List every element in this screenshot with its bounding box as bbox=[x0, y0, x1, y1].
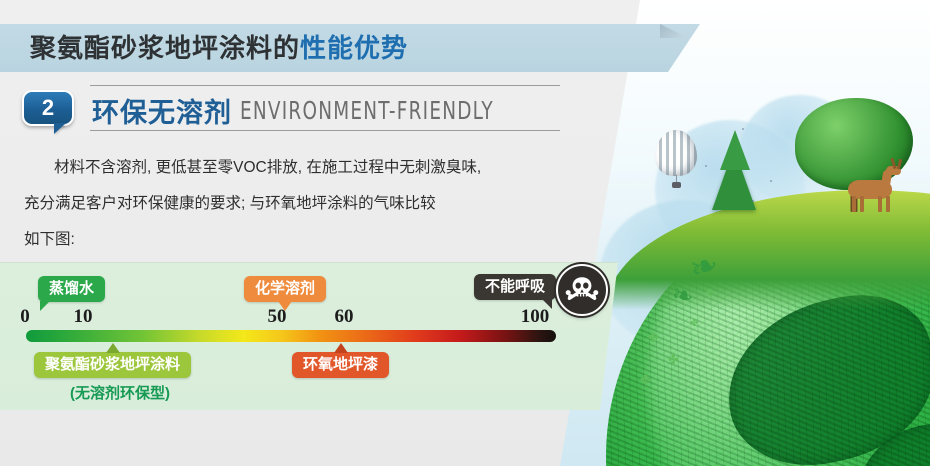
pu-sub-label: (无溶剂环保型) bbox=[34, 382, 206, 403]
clover-icon: ✤ bbox=[706, 288, 714, 299]
heading-rule-bottom bbox=[90, 130, 560, 131]
body-line: 充分满足客户对环保健康的要求; 与环氧地坪涂料的气味比较 bbox=[24, 186, 564, 222]
deer-leg bbox=[860, 196, 864, 212]
tick-label-100: 100 bbox=[521, 306, 550, 328]
deer-icon bbox=[842, 170, 900, 212]
annotation-label: 不能呼吸 bbox=[485, 278, 545, 295]
hot-air-balloon-icon bbox=[655, 130, 697, 188]
body-line: 材料不含溶剂, 更低甚至零VOC排放, 在施工过程中无刺激臭味, bbox=[24, 150, 564, 186]
body-paragraph: 材料不含溶剂, 更低甚至零VOC排放, 在施工过程中无刺激臭味, 充分满足客户对… bbox=[24, 150, 564, 258]
annotation-cannot-breathe: 不能呼吸 bbox=[474, 274, 556, 300]
balloon-envelope bbox=[655, 130, 697, 176]
section-title-cn: 环保无溶剂 bbox=[92, 91, 232, 130]
page-title-main: 聚氨酯砂浆地坪涂料的 bbox=[30, 33, 300, 63]
annotation-chemical-solvent: 化学溶剂 bbox=[244, 276, 326, 302]
deer-leg bbox=[886, 196, 890, 212]
skull-and-crossbones-icon bbox=[556, 264, 608, 316]
heading-rule-top bbox=[90, 85, 560, 86]
tick-label-0: 0 bbox=[20, 306, 30, 328]
tick-label-50: 50 bbox=[268, 306, 287, 328]
annotation-distilled-water: 蒸馏水 bbox=[38, 276, 105, 302]
page-title-accent: 性能优势 bbox=[300, 33, 408, 63]
deer-leg bbox=[852, 196, 856, 212]
deer-leg bbox=[878, 196, 882, 212]
scale-tick-labels: 0 10 50 60 100 bbox=[0, 306, 560, 328]
body-line: 如下图: bbox=[24, 222, 564, 258]
annotation-label: 化学溶剂 bbox=[255, 280, 315, 297]
balloon-basket bbox=[672, 182, 681, 188]
annotation-label: 蒸馏水 bbox=[49, 280, 94, 297]
annotation-pu-mortar-floor: 聚氨酯砂浆地坪涂料 bbox=[34, 352, 191, 378]
clover-icon: ✤ bbox=[640, 372, 651, 388]
odor-gradient-bar bbox=[26, 330, 556, 342]
clover-icon: ✤ bbox=[648, 330, 659, 346]
section-title-en: ENVIRONMENT-FRIENDLY bbox=[240, 96, 494, 125]
page-title: 聚氨酯砂浆地坪涂料的性能优势 bbox=[30, 30, 408, 66]
speck bbox=[770, 180, 772, 182]
tick-label-60: 60 bbox=[335, 306, 354, 328]
conifer-tree-icon bbox=[720, 130, 750, 170]
annotation-label: 聚氨酯砂浆地坪涂料 bbox=[45, 356, 180, 373]
section-number-badge: 2 bbox=[22, 90, 74, 126]
clover-icon: ✤ bbox=[690, 318, 698, 329]
clover-icon: ✤ bbox=[668, 352, 679, 368]
annotation-epoxy-floor: 环氧地坪漆 bbox=[292, 352, 389, 378]
tag-tail bbox=[334, 343, 348, 353]
speck bbox=[742, 128, 744, 130]
speck bbox=[705, 165, 707, 167]
annotation-label: 环氧地坪漆 bbox=[303, 356, 378, 373]
speck bbox=[752, 200, 754, 202]
tag-tail bbox=[106, 343, 120, 353]
tick-label-10: 10 bbox=[74, 306, 93, 328]
section-heading: 2 环保无溶剂 ENVIRONMENT-FRIENDLY bbox=[22, 84, 562, 132]
